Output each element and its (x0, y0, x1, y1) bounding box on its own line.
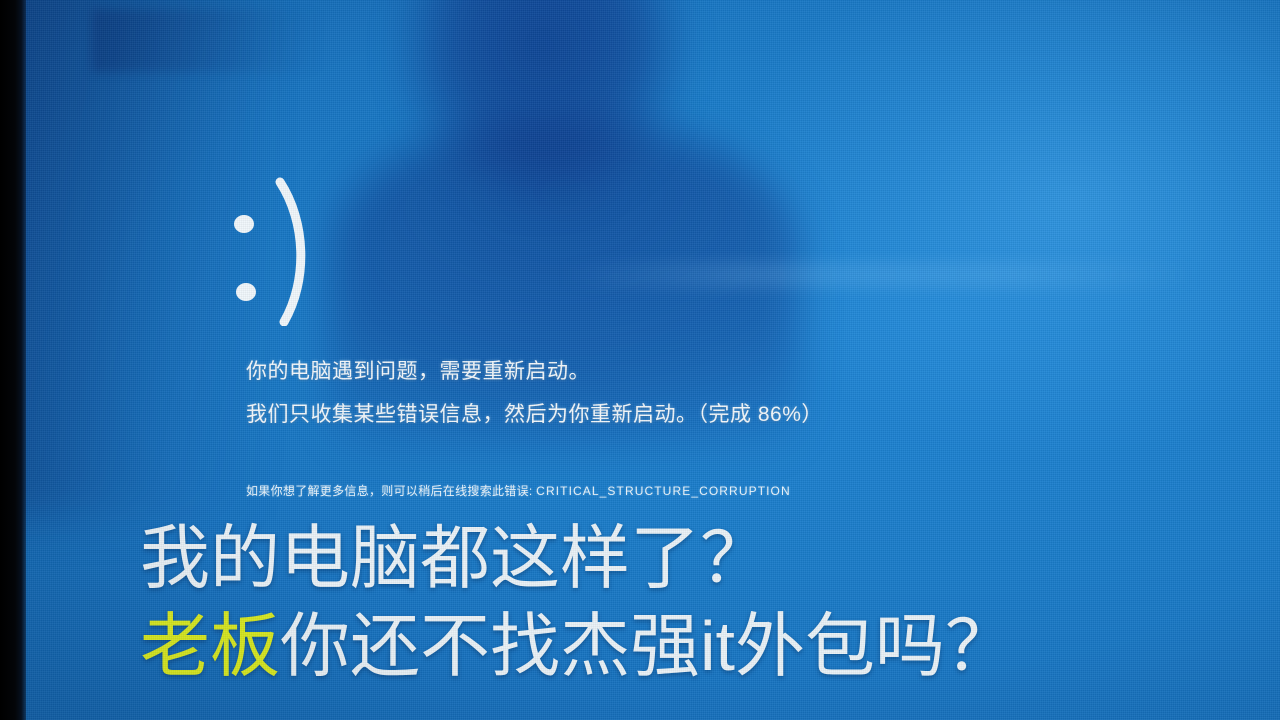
caption-line-1: 我的电脑都这样了？ (140, 516, 1260, 600)
sad-face-emoticon (228, 176, 378, 326)
bsod-secondary-message: 我们只收集某些错误信息，然后为你重新启动。（完成 86%） (246, 398, 823, 428)
bsod-progress-text: （完成 86%） (698, 403, 823, 426)
bsod-more-info-text: 如果你想了解更多信息，则可以稍后在线搜索此错误: (246, 484, 536, 498)
monitor-bezel-left (0, 0, 26, 720)
bsod-collecting-text: 我们只收集某些错误信息，然后为你重新启动。 (246, 403, 698, 426)
bsod-primary-message: 你的电脑遇到问题，需要重新启动。 (246, 355, 590, 385)
caption-rest-text: 你还不找杰强it外包吗？ (280, 607, 1015, 685)
bsod-more-info-line: 如果你想了解更多信息，则可以稍后在线搜索此错误: CRITICAL_STRUCT… (246, 482, 791, 499)
caption-highlight-text: 老板 (140, 607, 280, 685)
caption-overlay: 我的电脑都这样了？ 老板你还不找杰强it外包吗？ (140, 516, 1260, 688)
bsod-stop-code: CRITICAL_STRUCTURE_CORRUPTION (536, 484, 791, 498)
caption-line-2: 老板你还不找杰强it外包吗？ (140, 604, 1260, 688)
bsod-photo: 你的电脑遇到问题，需要重新启动。 我们只收集某些错误信息，然后为你重新启动。（完… (0, 0, 1280, 720)
